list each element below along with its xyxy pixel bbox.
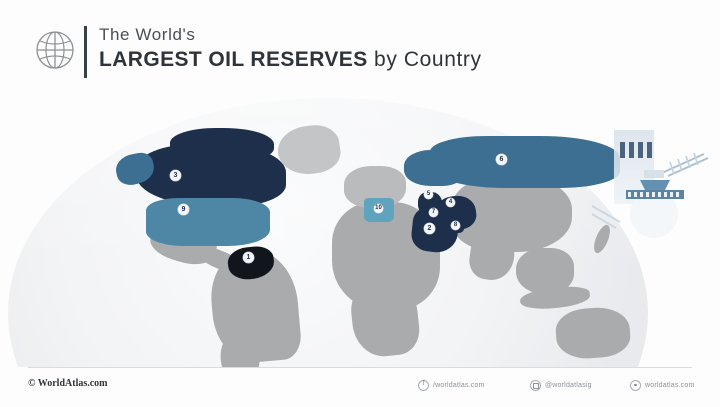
country-canada-north [170,128,274,162]
title-suffix-text: by Country [368,48,482,71]
social-facebook[interactable]: /worldatlas.com [418,378,485,392]
infographic-page: The World's LARGEST OIL RESERVES by Coun… [0,0,720,407]
instagram-label: @worldatlasig [545,382,592,389]
map-marker-russia[interactable]: 6 [496,154,507,165]
facebook-label: /worldatlas.com [433,382,485,389]
globe-icon [33,28,77,72]
title-main-text: LARGEST OIL RESERVES [99,48,368,71]
social-instagram[interactable]: @worldatlasig [530,378,592,392]
map-marker-uae[interactable]: 8 [451,221,460,230]
footer: © WorldAtlas.com /worldatlas.com @worlda… [0,367,720,407]
map-marker-canada[interactable]: 3 [170,170,181,181]
country-united-states [146,198,270,246]
map-marker-united-states[interactable]: 9 [178,204,189,215]
title-heading: LARGEST OIL RESERVES by Country [99,46,482,73]
country-russia-west [404,150,464,186]
page-title: The World's LARGEST OIL RESERVES by Coun… [99,24,482,73]
website-label: worldatlas.com [645,382,694,389]
map-marker-saudi-arabia[interactable]: 2 [424,223,435,234]
social-website[interactable]: worldatlas.com [630,378,694,392]
footer-divider [28,367,692,368]
copyright-text: © WorldAtlas.com [28,378,108,389]
website-icon [630,380,641,391]
title-divider [84,26,87,78]
map-marker-venezuela[interactable]: 1 [243,252,254,263]
map-marker-iraq[interactable]: 5 [424,190,433,199]
header: The World's LARGEST OIL RESERVES by Coun… [0,0,720,100]
map-marker-kuwait[interactable]: 7 [429,208,438,217]
map-marker-iran[interactable]: 4 [446,198,455,207]
map-marker-libya[interactable]: 10 [374,204,383,213]
world-map: 3 9 1 10 6 5 4 7 8 2 [0,92,720,367]
instagram-icon [530,380,541,391]
social-links: /worldatlas.com @worldatlasig worldatlas… [418,378,698,394]
oil-refinery-illustration [592,110,712,240]
title-subtitle: The World's [99,24,482,46]
facebook-icon [418,380,429,391]
